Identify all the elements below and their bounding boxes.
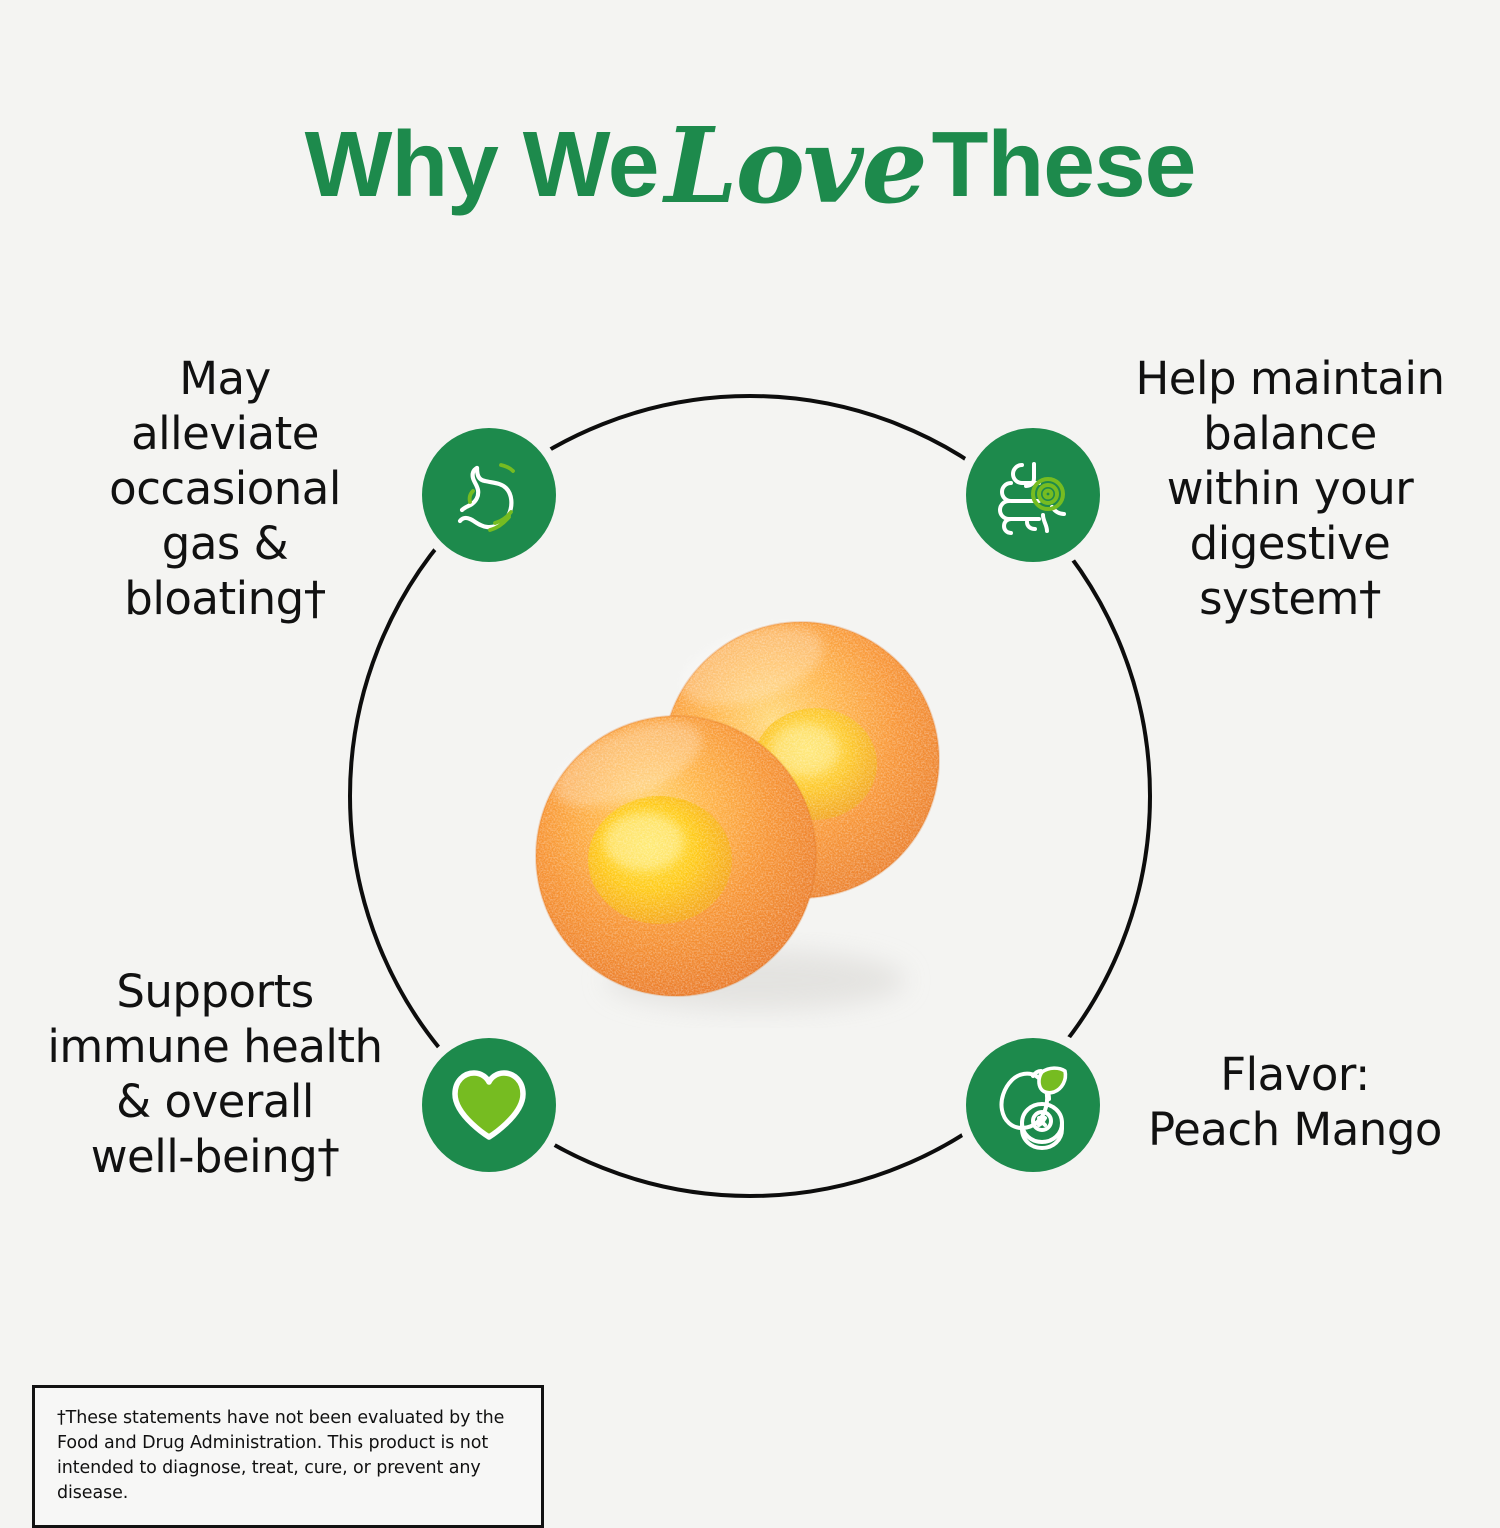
stomach-icon	[443, 449, 535, 541]
badge-mango-peach	[966, 1038, 1100, 1172]
title-script-word: Love	[659, 104, 932, 227]
badge-heart	[422, 1038, 556, 1172]
badge-intestine	[966, 428, 1100, 562]
infographic-canvas: Why WeLoveThese	[0, 0, 1500, 1500]
peach-mango-gummies-image	[520, 588, 970, 1028]
badge-stomach	[422, 428, 556, 562]
disclaimer-text: †These statements have not been evaluate…	[57, 1406, 519, 1505]
title-part-one: Why We	[305, 112, 659, 216]
page-title: Why WeLoveThese	[0, 108, 1500, 212]
mango-peach-icon	[986, 1060, 1080, 1150]
title-part-two: These	[932, 112, 1196, 216]
heart-icon	[449, 1068, 529, 1142]
benefit-text-flavor: Flavor: Peach Mango	[1100, 1048, 1490, 1158]
benefit-text-digestive-balance: Help maintain balance within your digest…	[1090, 352, 1490, 626]
benefit-text-immune-health: Supports immune health & overall well-be…	[10, 965, 420, 1185]
disclaimer-box: †These statements have not been evaluate…	[32, 1385, 544, 1528]
intestine-icon	[987, 449, 1079, 541]
benefit-text-gas-bloating: May alleviate occasional gas & bloating†	[30, 352, 420, 626]
